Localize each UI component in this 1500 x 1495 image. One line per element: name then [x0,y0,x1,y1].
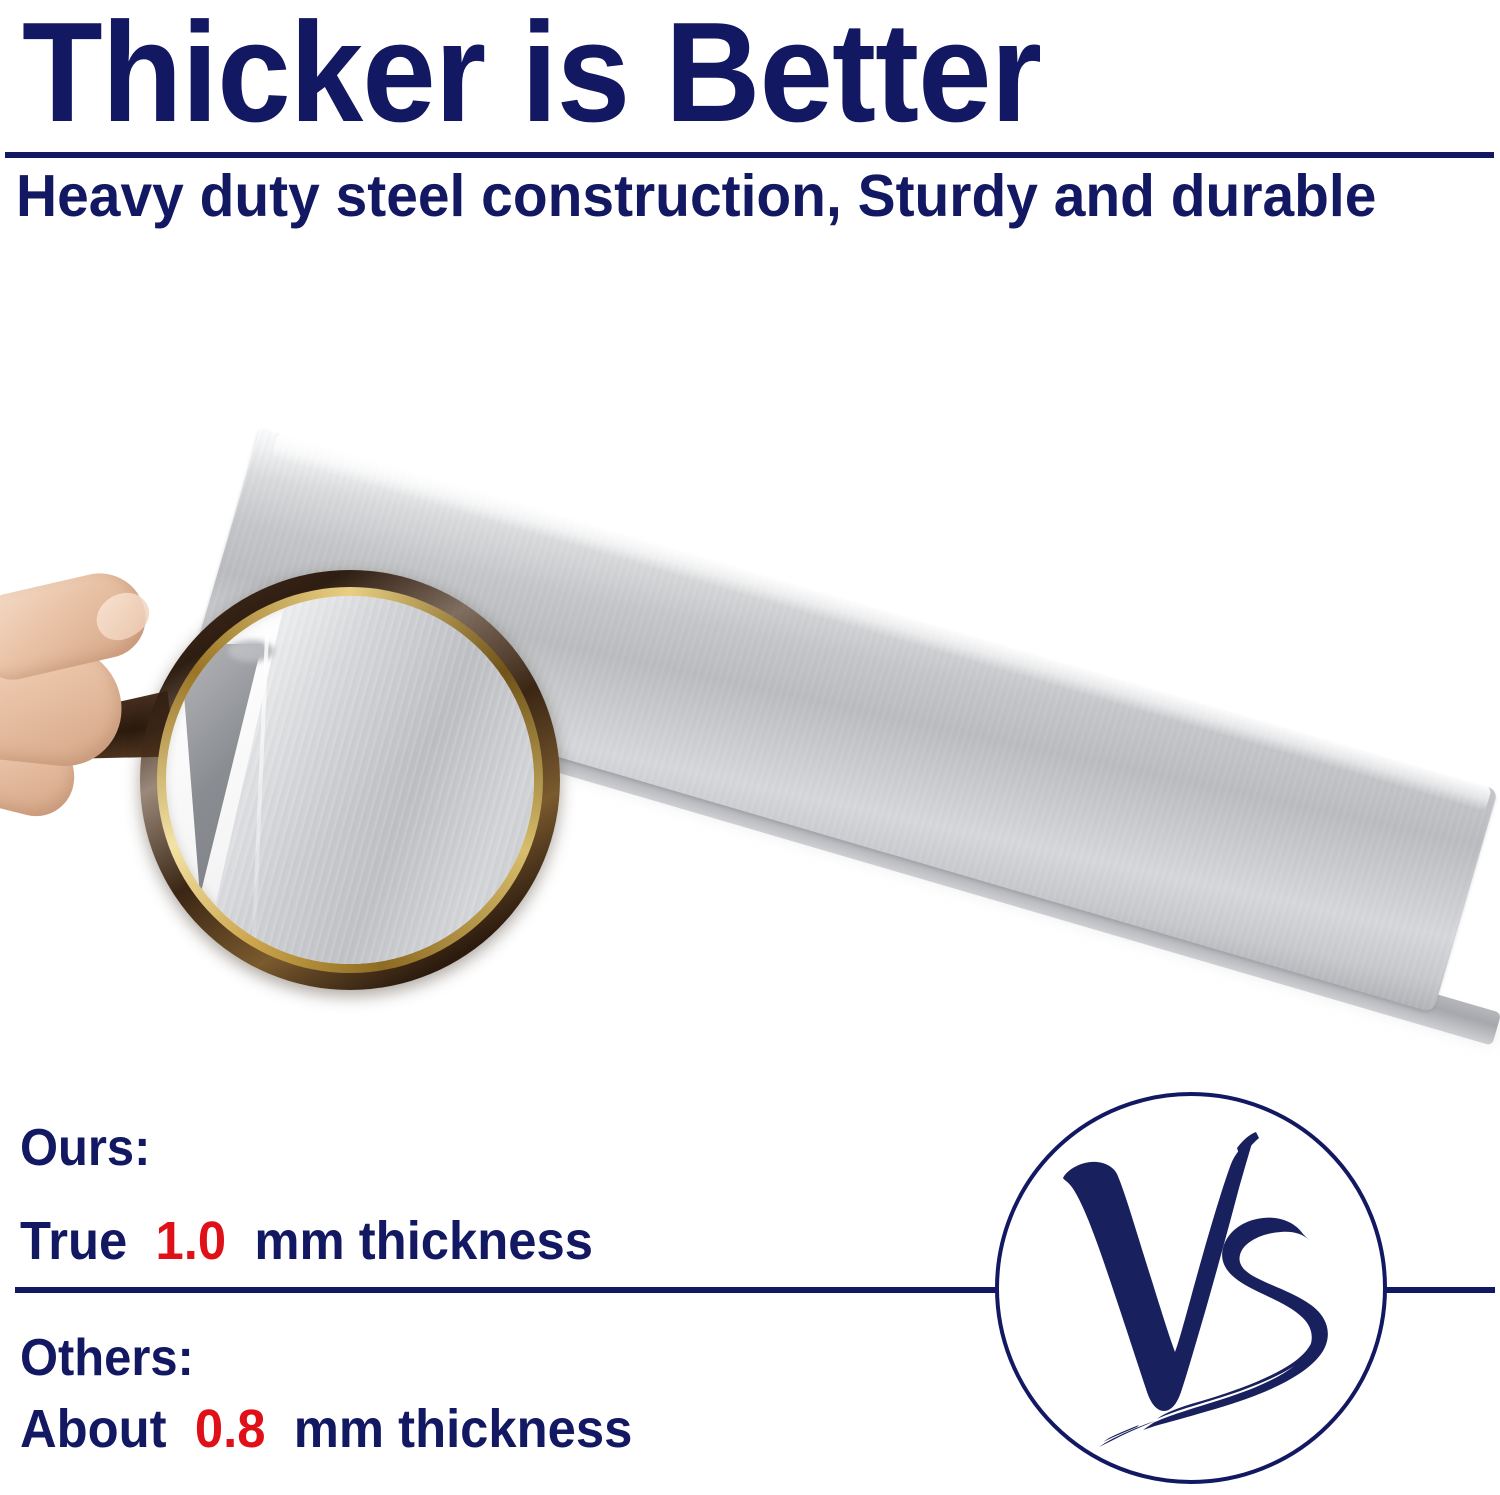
others-suffix: mm thickness [294,1399,633,1459]
others-label: Others: [20,1332,194,1384]
fingernail [88,584,157,649]
others-thickness-number: 0.8 [195,1399,266,1459]
page-title: Thicker is Better [22,0,1041,164]
header-divider [5,152,1494,158]
comparison-divider-left [15,1287,997,1293]
vs-badge [995,1092,1387,1484]
ours-prefix: True [20,1211,127,1271]
product-photo [0,250,1500,1070]
ours-suffix: mm thickness [254,1211,593,1271]
ours-thickness-number: 1.0 [156,1211,227,1271]
magnifier-lens [166,596,534,964]
hand-holding-icon [0,576,210,826]
thickness-comparison: Ours: True 1.0 mm thickness Others: Abou… [0,1090,1500,1495]
vs-brush-text [1051,1130,1341,1448]
ours-value-row: True 1.0 mm thickness [20,1214,607,1268]
comparison-divider-right [1385,1287,1495,1293]
others-value-row: About 0.8 mm thickness [20,1402,647,1456]
ours-label: Ours: [20,1122,150,1174]
magnified-steel-profile [166,596,534,964]
page-subtitle: Heavy duty steel construction, Sturdy an… [16,166,1376,226]
others-prefix: About [20,1399,167,1459]
header-block: Thicker is Better Heavy duty steel const… [0,0,1500,232]
